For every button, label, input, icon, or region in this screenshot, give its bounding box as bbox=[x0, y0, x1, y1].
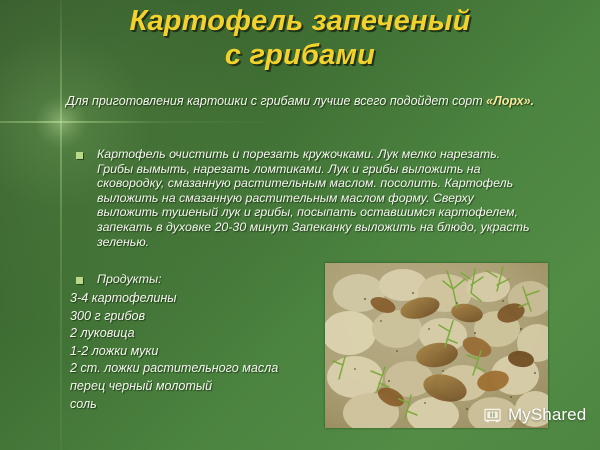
square-bullet-icon bbox=[76, 152, 83, 159]
dish-photo-image bbox=[325, 263, 548, 428]
ingredient-line: соль bbox=[70, 396, 340, 414]
ingredient-line: 2 ст. ложки растительного масла bbox=[70, 360, 340, 378]
presentation-slide: Картофель запеченый с грибами Для пригот… bbox=[0, 0, 600, 450]
dish-photo bbox=[325, 263, 548, 428]
subtitle-main-text: Для приготовления картошки с грибами луч… bbox=[66, 94, 483, 108]
ingredients-list: 3-4 картофелины300 г грибов2 луковица1-2… bbox=[70, 290, 340, 413]
ingredient-line: 2 луковица bbox=[70, 325, 340, 343]
slide-title: Картофель запеченый с грибами bbox=[0, 4, 600, 72]
ingredient-line: 300 г грибов bbox=[70, 308, 340, 326]
instructions-text: Картофель очистить и порезать кружочками… bbox=[97, 147, 537, 249]
instructions-bullet-item: Картофель очистить и порезать кружочками… bbox=[76, 147, 546, 249]
ingredient-line: 3-4 картофелины bbox=[70, 290, 340, 308]
ingredient-line: 1-2 ложки муки bbox=[70, 343, 340, 361]
products-heading: Продукты: bbox=[97, 272, 162, 287]
ingredient-line: перец черный молотый bbox=[70, 378, 340, 396]
background-horizontal-light-beam bbox=[0, 121, 600, 123]
subtitle-variety-name: «Лорх». bbox=[486, 94, 534, 108]
slide-subtitle: Для приготовления картошки с грибами луч… bbox=[42, 94, 558, 109]
square-bullet-icon bbox=[76, 277, 83, 284]
slide-title-line-2: с грибами bbox=[0, 38, 600, 72]
slide-title-line-1: Картофель запеченый bbox=[0, 4, 600, 38]
